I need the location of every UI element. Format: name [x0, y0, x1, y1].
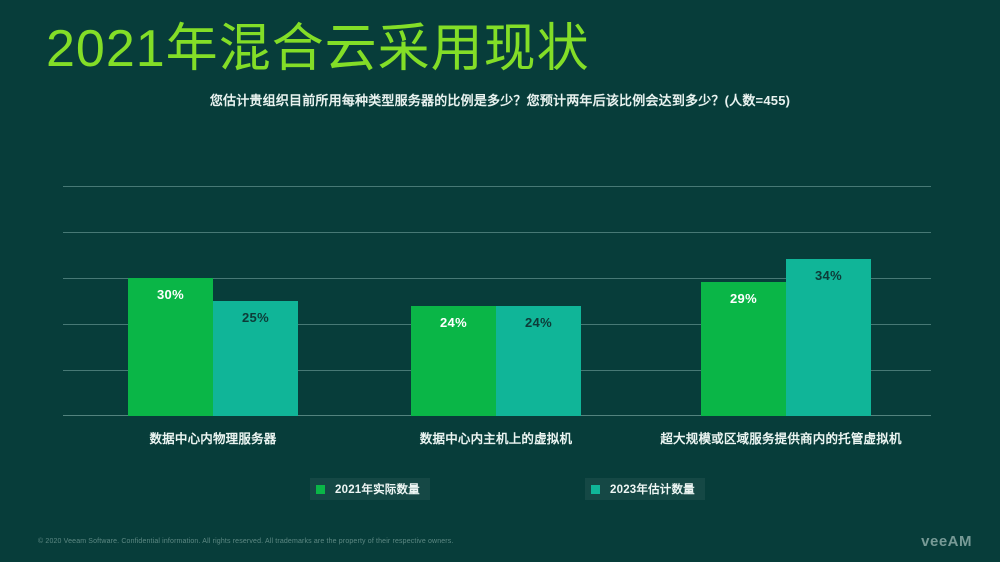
bar-group-2: 29% 34%: [701, 186, 871, 416]
chart-subtitle: 您估计贵组织目前所用每种类型服务器的比例是多少？您预计两年后该比例会达到多少？(…: [0, 90, 1000, 109]
bar-0-series-1[interactable]: 25%: [213, 301, 298, 416]
legend-label-2023: 2023年估计数量: [610, 481, 695, 497]
chart-bar-groups: 30% 25% 24% 24% 29% 34%: [63, 186, 931, 416]
bar-group-0: 30% 25%: [128, 186, 298, 416]
category-label-1: 数据中心内主机上的虚拟机: [346, 428, 646, 447]
legend-label-2021: 2021年实际数量: [335, 481, 420, 497]
chart-category-axis: 数据中心内物理服务器 数据中心内主机上的虚拟机 超大规模或区域服务提供商内的托管…: [63, 428, 931, 448]
category-label-2: 超大规模或区域服务提供商内的托管虚拟机: [631, 428, 931, 447]
chart-legend: 2021年实际数量 2023年估计数量: [0, 478, 1000, 500]
bar-0-series-0[interactable]: 30%: [128, 278, 213, 416]
veeam-logo: veeAM: [921, 533, 972, 550]
page-title: 2021年混合云采用现状: [46, 18, 590, 80]
bar-1-series-0[interactable]: 24%: [411, 306, 496, 416]
footer-copyright: © 2020 Veeam Software. Confidential info…: [38, 538, 454, 545]
legend-item-2023[interactable]: 2023年估计数量: [585, 478, 705, 500]
bar-group-1: 24% 24%: [411, 186, 581, 416]
bar-2-series-1[interactable]: 34%: [786, 259, 871, 416]
legend-swatch-green-icon: [316, 485, 325, 494]
bar-1-series-1[interactable]: 24%: [496, 306, 581, 416]
legend-swatch-teal-icon: [591, 485, 600, 494]
bar-value-label: 34%: [786, 268, 871, 283]
slide-root: 2021年混合云采用现状 您估计贵组织目前所用每种类型服务器的比例是多少？您预计…: [0, 0, 1000, 562]
bar-2-series-0[interactable]: 29%: [701, 282, 786, 416]
category-label-0: 数据中心内物理服务器: [63, 428, 363, 447]
legend-item-2021[interactable]: 2021年实际数量: [310, 478, 430, 500]
bar-value-label: 24%: [411, 315, 496, 330]
bar-value-label: 29%: [701, 291, 786, 306]
bar-value-label: 25%: [213, 310, 298, 325]
bar-value-label: 24%: [496, 315, 581, 330]
bar-value-label: 30%: [128, 287, 213, 302]
